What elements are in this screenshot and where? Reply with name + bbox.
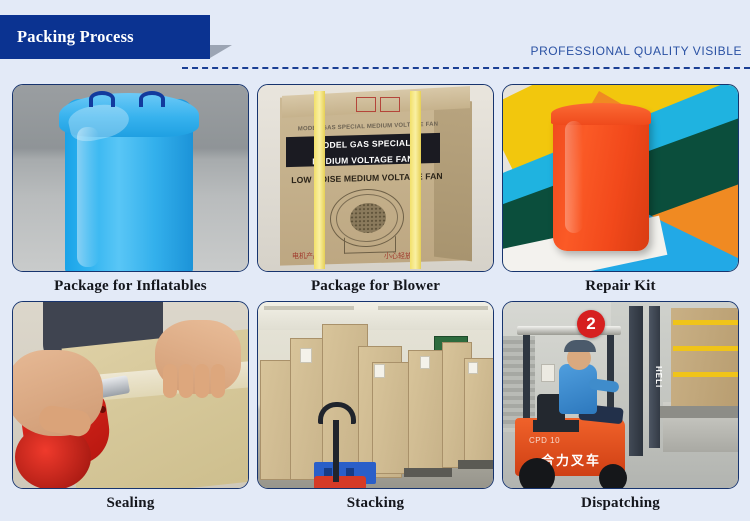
carton-red-print-right: 小心轻放 [384, 251, 412, 261]
header-dashed-rule [182, 67, 750, 69]
forklift-mast-rail [629, 306, 643, 456]
overhead-guard-post [523, 330, 530, 422]
umbrella-keep-dry-icon [380, 97, 400, 112]
finger [211, 364, 225, 398]
ceiling-beam [378, 306, 488, 310]
wooden-pallet [458, 460, 494, 469]
title-banner: Packing Process [0, 15, 210, 59]
carton-box-blower-photo: MODEL GAS SPECIAL MEDIUM VOLTAGE FAN MOD… [257, 84, 494, 272]
bag-tie-right [139, 91, 165, 107]
process-step-card: MODEL GAS SPECIAL MEDIUM VOLTAGE FAN MOD… [257, 84, 494, 295]
card-caption: Repair Kit [502, 272, 739, 295]
blue-plastic-bag-package-photo [12, 84, 249, 272]
forklift-front-wheel [599, 464, 627, 489]
bag-tie-left [89, 91, 115, 107]
overhead-guard-roof [517, 326, 621, 335]
page-header: Packing Process PROFESSIONAL QUALITY VIS… [0, 0, 750, 78]
page-title: Packing Process [0, 27, 134, 47]
strapping-band-right [410, 91, 421, 269]
forklift-model-text: CPD 10 [529, 436, 560, 445]
ribbon-fold-icon [210, 45, 232, 58]
strapping-band-left [314, 91, 325, 269]
pallet-jack-shaft [333, 420, 339, 482]
wooden-pallet [404, 468, 452, 477]
forklift-rear-wheel [519, 458, 555, 489]
ceiling-beam [264, 306, 354, 310]
process-step-card: Sealing [12, 301, 249, 512]
wall-safety-sign [541, 364, 555, 382]
card-caption: Package for Inflatables [12, 272, 249, 295]
shipping-label [468, 362, 478, 374]
pouch-rolled-top [551, 103, 651, 125]
card-caption: Stacking [257, 489, 494, 512]
packing-process-grid: Package for Inflatables MODEL GAS SPECIA… [12, 84, 739, 512]
shipping-label [420, 356, 430, 369]
operator-cap [564, 340, 596, 352]
tape-gun-sealing-photo [12, 301, 249, 489]
forklift-loading-truck-photo: HELI CPD 10 合力叉车 2 [502, 301, 739, 489]
yellow-strap [673, 372, 739, 377]
yellow-strap [673, 346, 739, 351]
warehouse-stacked-cartons-photo [257, 301, 494, 489]
step-number-badge: 2 [577, 310, 605, 338]
card-caption: Dispatching [502, 489, 739, 512]
finger [163, 364, 177, 398]
shipping-label [300, 348, 312, 363]
header-tagline: PROFESSIONAL QUALITY VISIBLE [531, 44, 742, 58]
pallet-jack-pump [314, 476, 366, 489]
finger [179, 364, 193, 398]
process-step-card: Repair Kit [502, 84, 739, 295]
process-step-card: HELI CPD 10 合力叉车 2 Dispatching [502, 301, 739, 512]
finger [195, 364, 209, 398]
card-caption: Package for Blower [257, 272, 494, 295]
roller-shutter [503, 336, 535, 428]
process-step-card: Stacking [257, 301, 494, 512]
pouch-sheen [565, 121, 583, 233]
bag-sheen [77, 127, 99, 267]
truck-deck-edge [659, 406, 739, 418]
yellow-strap [673, 320, 739, 325]
red-repair-kit-pouch-photo [502, 84, 739, 272]
shipping-label [374, 364, 385, 378]
heli-brand-text: HELI [651, 366, 663, 410]
card-caption: Sealing [12, 489, 249, 512]
fragile-icon [356, 97, 376, 112]
process-step-card: Package for Inflatables [12, 84, 249, 295]
